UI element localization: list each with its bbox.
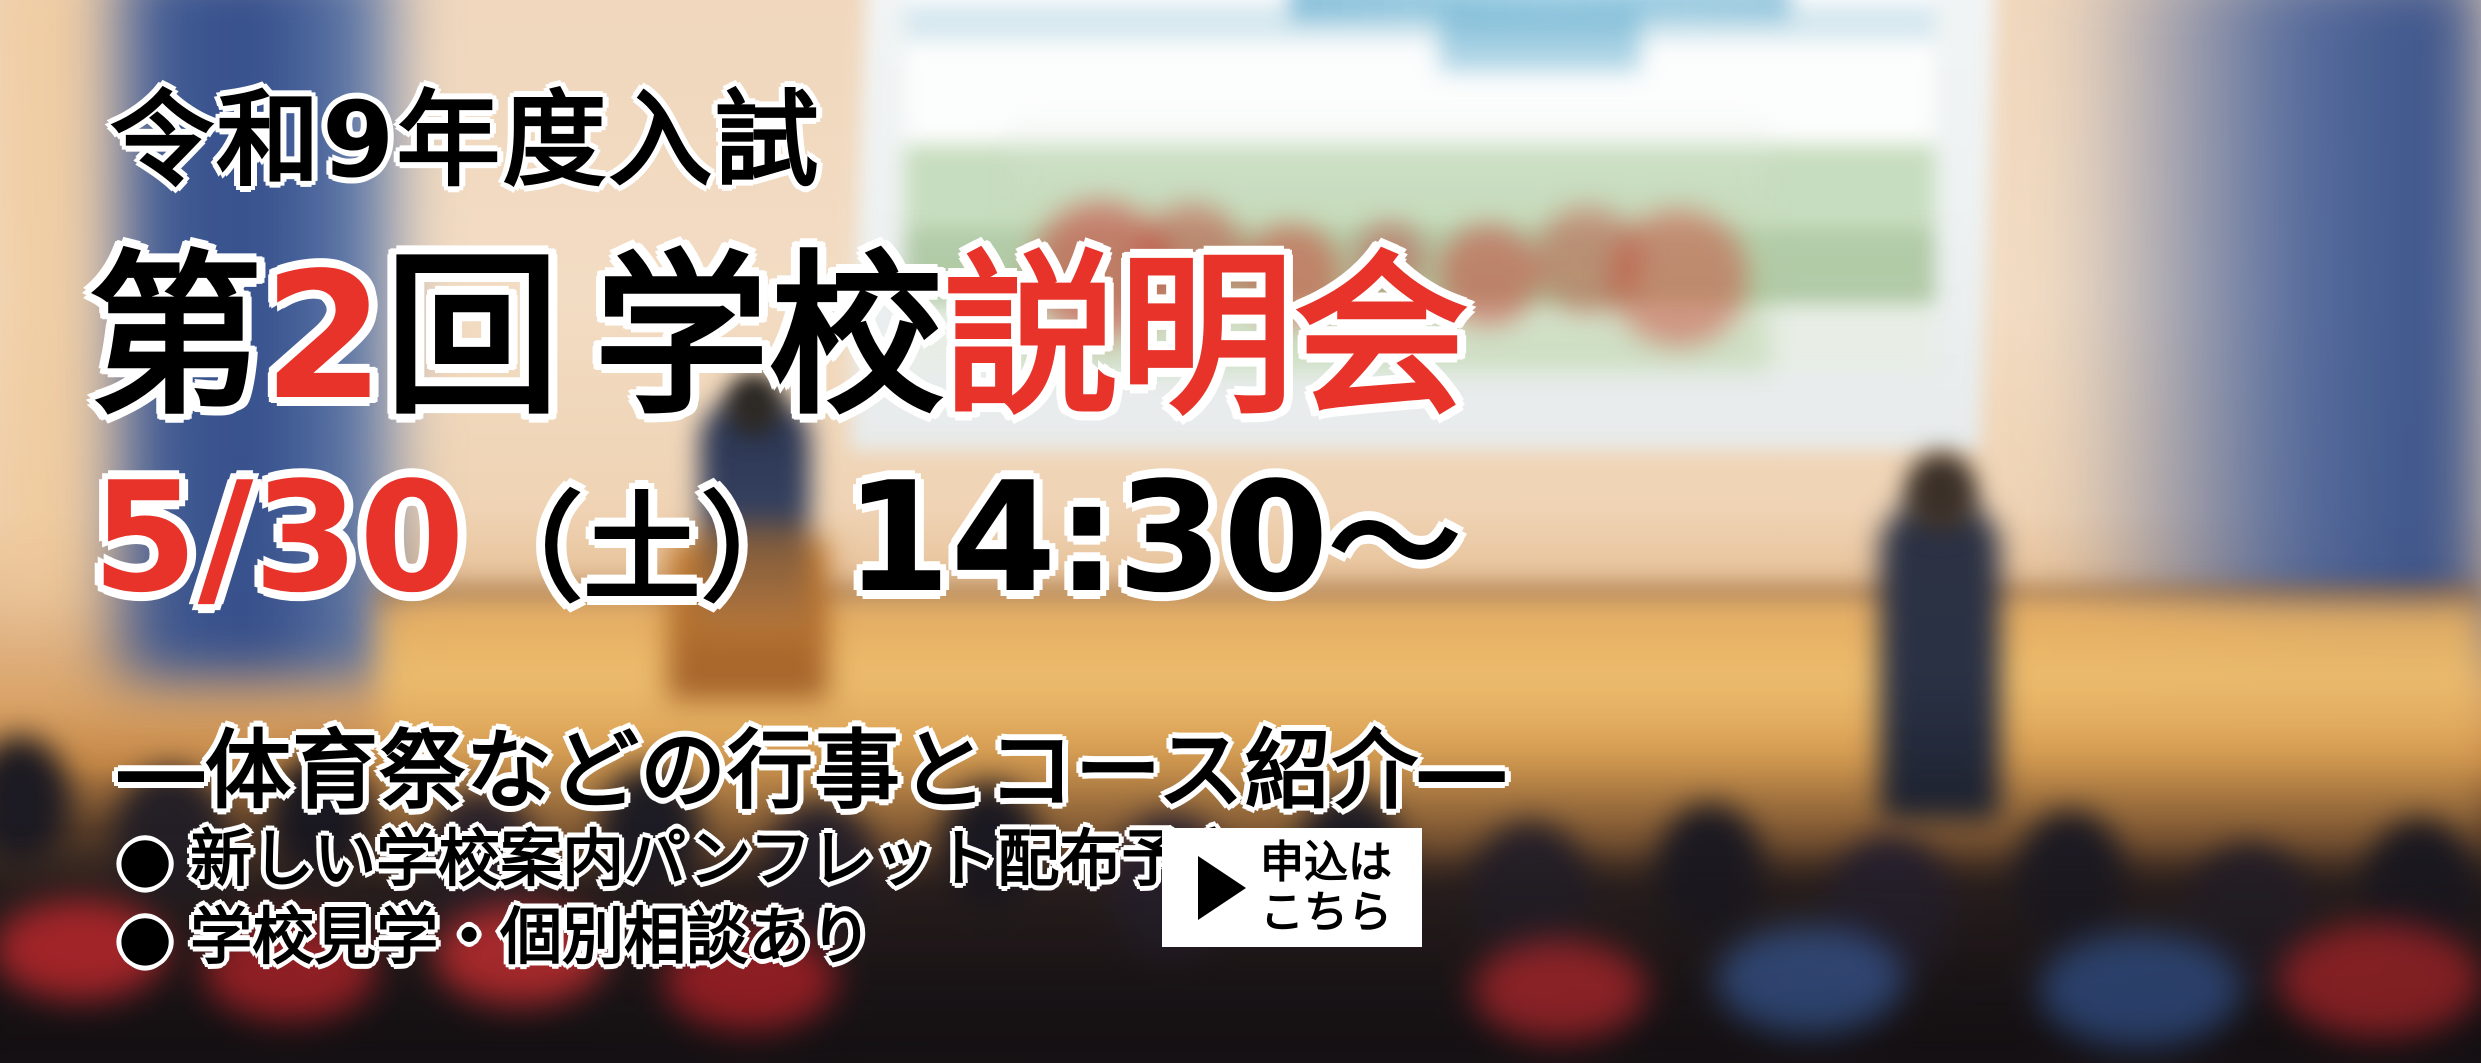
- main-title: 第2回学校説明会: [88, 250, 1469, 425]
- banner-content: 令和9年度入試 第2回学校説明会 5/30（土）14:30〜 ―体育祭などの行事…: [0, 0, 2481, 1063]
- title-part-1: 第: [88, 236, 263, 439]
- bullet-text: 新しい学校案内パンフレット配布予定: [190, 822, 1245, 895]
- bullet-text: 学校見学・個別相談あり: [190, 900, 872, 973]
- bullet-dot-icon: ●: [118, 822, 172, 895]
- apply-here-button[interactable]: 申込は こちら: [1162, 828, 1422, 947]
- apply-button-label-line2: こちら: [1260, 888, 1392, 937]
- eyebrow-text: 令和9年度入試: [110, 55, 820, 206]
- school-briefing-banner: 令和9年度入試 第2回学校説明会 5/30（土）14:30〜 ―体育祭などの行事…: [0, 0, 2481, 1063]
- title-part-2: 回: [385, 236, 560, 439]
- list-item: ●学校見学・個別相談あり: [118, 886, 872, 976]
- title-part-4: 説明会: [944, 236, 1469, 439]
- event-date: 5/30: [92, 449, 465, 626]
- event-time: 14:30: [845, 449, 1329, 626]
- apply-button-label-line1: 申込は: [1260, 838, 1392, 887]
- subtitle-text: ―体育祭などの行事とコース紹介―: [118, 700, 1506, 825]
- apply-button-label: 申込は こちら: [1260, 838, 1392, 937]
- bullet-dot-icon: ●: [118, 900, 172, 973]
- play-triangle-icon: [1198, 856, 1246, 920]
- date-time-line: 5/30（土）14:30〜: [92, 462, 1461, 614]
- list-item: ●新しい学校案内パンフレット配布予定: [118, 808, 1245, 898]
- title-session-number: 2: [263, 236, 385, 439]
- title-part-3: 学校: [594, 236, 944, 439]
- event-weekday: （土）: [465, 480, 819, 618]
- event-time-onward: 〜: [1329, 468, 1461, 622]
